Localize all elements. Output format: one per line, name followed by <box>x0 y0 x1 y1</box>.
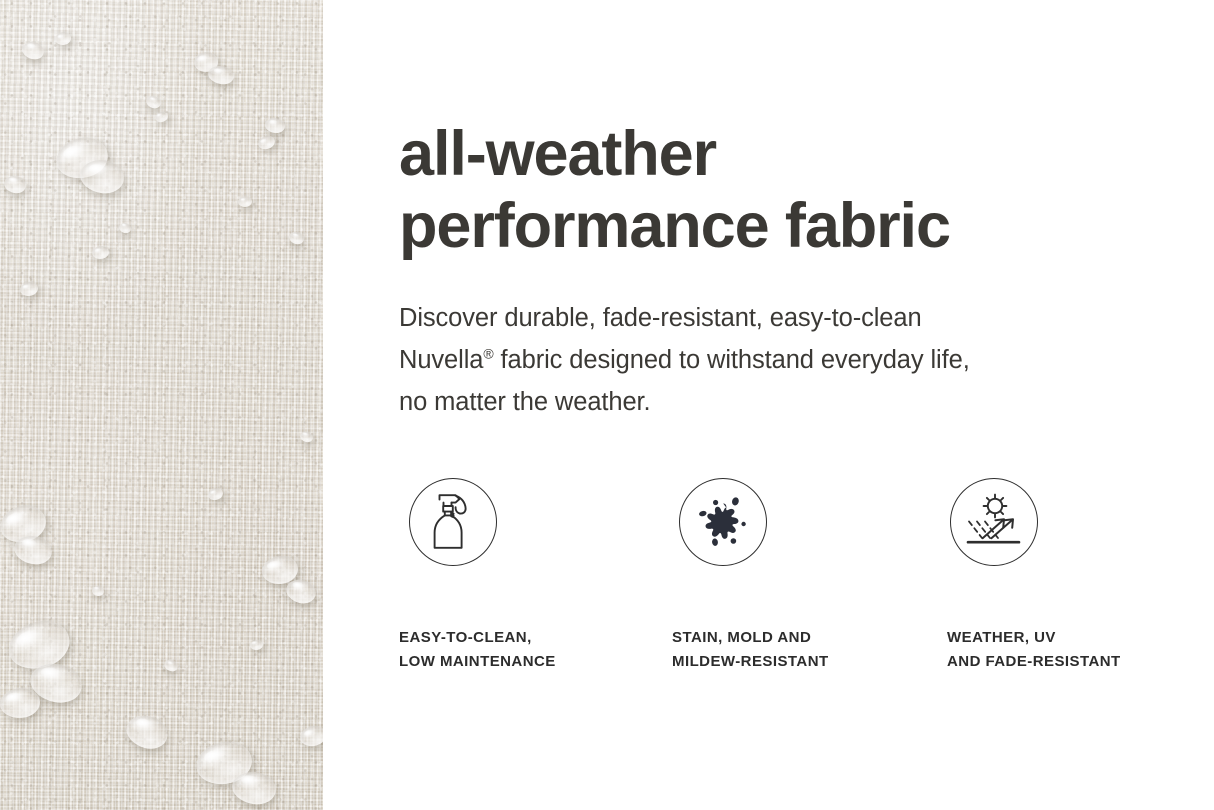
spray-bottle-icon <box>425 491 481 553</box>
subcopy-line-2: fabric designed to withstand everyday li… <box>494 346 970 374</box>
caption-line-2: AND FADE-RESISTANT <box>947 650 1121 674</box>
feature-icon-easy-to-clean <box>409 478 497 566</box>
headline-line-1: all-weather <box>399 118 1199 190</box>
sun-uv-reflect-icon <box>963 492 1025 552</box>
brand-name-nuvella: Nuvella <box>399 346 483 374</box>
page-title: all-weather performance fabric <box>399 118 1199 262</box>
subheading-copy: Discover durable, fade-resistant, easy-t… <box>399 297 1159 423</box>
caption-line-2: MILDEW-RESISTANT <box>672 650 829 674</box>
caption-line-1: WEATHER, UV <box>947 626 1121 650</box>
stain-splat-icon <box>693 492 753 552</box>
registered-trademark-icon: ® <box>483 346 493 362</box>
caption-line-2: LOW MAINTENANCE <box>399 650 556 674</box>
content-panel: all-weather performance fabric Discover … <box>323 0 1214 810</box>
headline-line-2: performance fabric <box>399 190 1199 262</box>
all-weather-fabric-banner: all-weather performance fabric Discover … <box>0 0 1214 810</box>
fabric-photo <box>0 0 323 810</box>
feature-caption-easy-to-clean: EASY-TO-CLEAN, LOW MAINTENANCE <box>399 626 556 674</box>
feature-icons-row <box>399 478 1199 570</box>
caption-line-1: STAIN, MOLD AND <box>672 626 829 650</box>
feature-icon-weather-uv-fade <box>950 478 1038 566</box>
feature-caption-stain-resistant: STAIN, MOLD AND MILDEW-RESISTANT <box>672 626 829 674</box>
subcopy-line-1: Discover durable, fade-resistant, easy-t… <box>399 304 922 332</box>
subcopy-line-3: no matter the weather. <box>399 388 651 416</box>
feature-caption-weather-uv-fade: WEATHER, UV AND FADE-RESISTANT <box>947 626 1121 674</box>
feature-icon-stain-resistant <box>679 478 767 566</box>
caption-line-1: EASY-TO-CLEAN, <box>399 626 556 650</box>
